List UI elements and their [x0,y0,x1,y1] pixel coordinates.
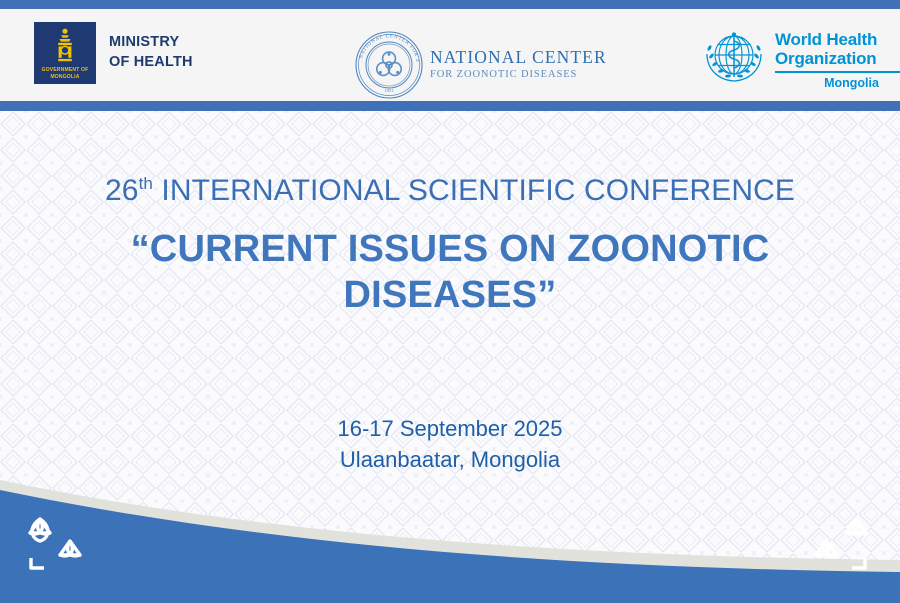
national-center-name-line-1: NATIONAL CENTER [430,48,607,67]
theme-title-line-2: DISEASES” [0,272,900,318]
edition-ordinal-suffix: th [139,174,153,193]
emblem-government-text: GOVERNMENT OF [34,68,96,73]
theme-title-line-1: “CURRENT ISSUES ON ZOONOTIC [0,226,900,272]
conference-edition-line: 26th INTERNATIONAL SCIENTIFIC CONFERENCE [0,173,900,209]
soyombo-symbol-icon [48,27,82,67]
top-accent-bar [0,0,900,9]
mongolian-knot-ornament-left [18,511,96,575]
national-center-name: NATIONAL CENTER FOR ZOONOTIC DISEASES [430,48,607,81]
edition-number: 26 [105,174,139,207]
who-mongolia-logo: World Health Organization Mongolia [700,27,900,90]
who-divider [775,71,900,73]
bottom-wave-decoration [0,468,900,603]
conference-theme-title: “CURRENT ISSUES ON ZOONOTIC DISEASES” [0,226,900,319]
conference-details-block: 16-17 September 2025 Ulaanbaatar, Mongol… [0,413,900,475]
zoonotic-seal-icon: NATIONAL CENTER FOR ZOONOTIC DISEASES 19… [352,28,426,102]
national-center-zoonotic-diseases-logo: NATIONAL CENTER FOR ZOONOTIC DISEASES 19… [352,28,607,102]
conference-dates: 16-17 September 2025 [0,413,900,444]
emblem-mongolia-text: MONGOLIA [34,74,96,80]
ministry-of-health-logo: GOVERNMENT OF MONGOLIA MINISTRY OF HEALT… [34,22,193,84]
national-center-name-line-2: FOR ZOONOTIC DISEASES [430,68,607,82]
conference-label: INTERNATIONAL SCIENTIFIC CONFERENCE [153,174,795,207]
mongolian-knot-ornament-right [800,511,878,575]
who-country-label: Mongolia [775,76,900,90]
conference-title-slide: GOVERNMENT OF MONGOLIA MINISTRY OF HEALT… [0,0,900,603]
svg-text:1951: 1951 [384,88,394,93]
who-name-line-2: Organization [775,49,900,68]
who-emblem-icon [700,27,768,89]
ministry-name-line-2: OF HEALTH [109,53,193,73]
ministry-of-health-name: MINISTRY OF HEALTH [109,33,193,72]
ministry-name-line-1: MINISTRY [109,33,193,53]
header-logo-band: GOVERNMENT OF MONGOLIA MINISTRY OF HEALT… [0,9,900,101]
mongolia-state-emblem-icon: GOVERNMENT OF MONGOLIA [34,22,96,84]
header-accent-bar [0,101,900,111]
who-wordmark: World Health Organization Mongolia [775,27,900,90]
conference-title-block: 26th INTERNATIONAL SCIENTIFIC CONFERENCE… [0,173,900,319]
who-name-line-1: World Health [775,30,900,49]
slide-body: 26th INTERNATIONAL SCIENTIFIC CONFERENCE… [0,111,900,603]
